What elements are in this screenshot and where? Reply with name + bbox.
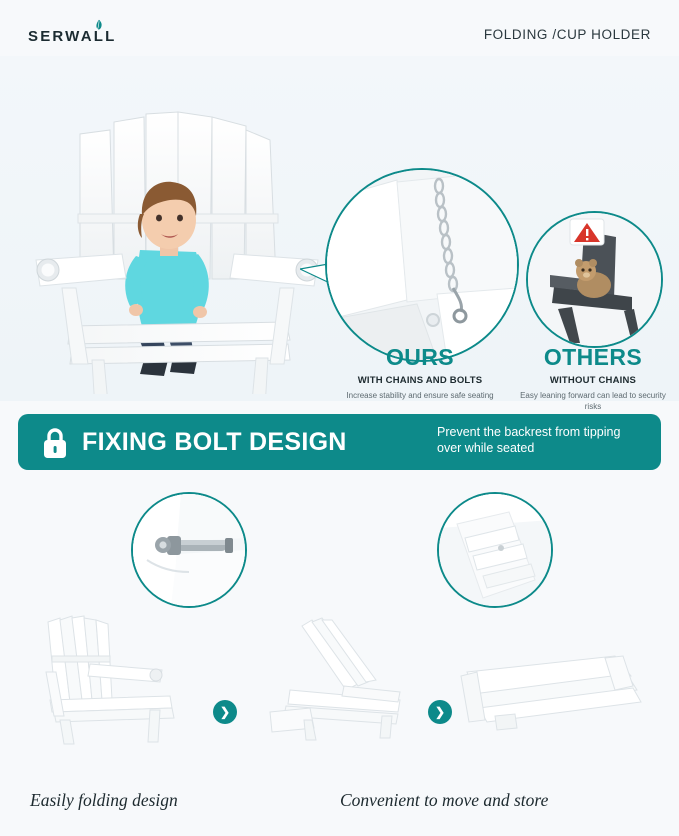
sequence-arrow-1: ❯ <box>213 700 237 724</box>
others-closeup-image <box>526 211 663 348</box>
header-subtitle: FOLDING /CUP HOLDER <box>484 27 651 42</box>
fixing-bolt-banner: FIXING BOLT DESIGN Prevent the backrest … <box>18 414 661 470</box>
chair-unfolded <box>30 612 208 752</box>
caption-folding: Easily folding design <box>30 790 178 811</box>
chair-half-folded <box>250 612 428 752</box>
sequence-arrow-2: ❯ <box>428 700 452 724</box>
others-subtitle: WITHOUT CHAINS <box>512 375 674 386</box>
warning-triangle-icon <box>570 219 604 245</box>
caption-storage: Convenient to move and store <box>340 790 548 811</box>
banner-note: Prevent the backrest from tipping over w… <box>437 425 643 456</box>
lock-icon <box>40 427 70 459</box>
banner-title: FIXING BOLT DESIGN <box>82 426 347 458</box>
ours-label-block: OURS WITH CHAINS AND BOLTS Increase stab… <box>336 344 504 402</box>
bolt-closeup-left <box>131 492 247 608</box>
bolt-closeup-right <box>437 492 553 608</box>
header: SERWALL FOLDING /CUP HOLDER <box>0 0 679 62</box>
ours-closeup-image <box>325 168 519 362</box>
others-description: Easy leaning forward can lead to securit… <box>512 391 674 413</box>
ours-subtitle: WITH CHAINS AND BOLTS <box>336 375 504 386</box>
others-title: OTHERS <box>512 344 674 371</box>
product-infographic: SERWALL FOLDING /CUP HOLDER <box>0 0 679 836</box>
ours-title: OURS <box>336 344 504 371</box>
ours-description: Increase stability and ensure safe seati… <box>336 391 504 402</box>
brand-logo: SERWALL <box>28 28 116 45</box>
others-label-block: OTHERS WITHOUT CHAINS Easy leaning forwa… <box>512 344 674 413</box>
chair-folded-flat <box>455 612 650 752</box>
chair-with-child-photo <box>18 64 338 394</box>
hero-section: OURS WITH CHAINS AND BOLTS Increase stab… <box>0 56 679 401</box>
leaf-icon <box>92 19 106 33</box>
